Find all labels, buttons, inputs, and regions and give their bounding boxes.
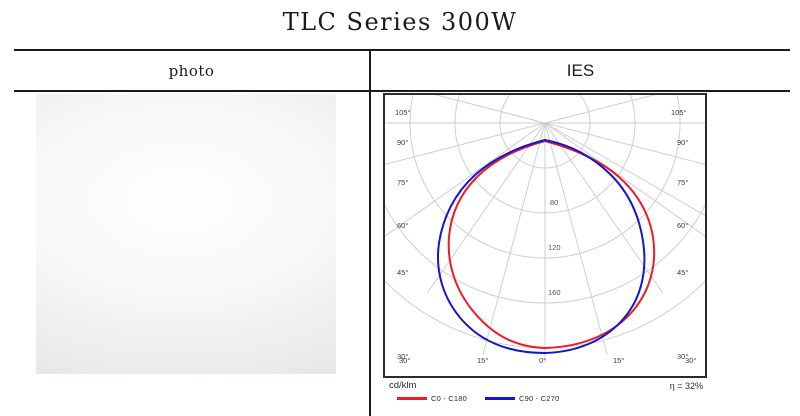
legend-swatch-red: [397, 397, 427, 400]
table-header-row: photo IES: [14, 51, 790, 92]
svg-text:105°: 105°: [671, 108, 687, 117]
page-title: TLC Series 300W: [0, 8, 800, 36]
svg-text:80: 80: [550, 198, 558, 207]
ies-polar-diagram: 105° 90° 75° 60° 45° 30° 105° 90°: [383, 93, 707, 406]
spec-table: photo IES: [14, 49, 790, 416]
column-header-photo-label: photo: [169, 62, 215, 80]
svg-text:90°: 90°: [677, 138, 688, 147]
legend-item-c0-c180: C0 - C180: [397, 394, 467, 403]
table-cell-photo: [14, 92, 371, 416]
ies-unit-label: cd/klm: [389, 380, 416, 391]
ies-legend-items: C0 - C180 C90 - C270: [397, 394, 559, 403]
table-header-cell-ies: IES: [371, 51, 790, 90]
ies-grid: [385, 95, 705, 363]
ies-angle-labels-bottom: 30° 15° 0° 15° 30°: [399, 356, 696, 365]
svg-text:45°: 45°: [677, 268, 688, 277]
svg-text:160: 160: [548, 288, 561, 297]
ies-chart-frame: 105° 90° 75° 60° 45° 30° 105° 90°: [383, 93, 707, 378]
page-root: TLC Series 300W photo IES: [0, 0, 800, 416]
svg-text:30°: 30°: [399, 356, 410, 365]
svg-text:75°: 75°: [677, 178, 688, 187]
table-cell-ies: 105° 90° 75° 60° 45° 30° 105° 90°: [371, 92, 790, 416]
svg-text:75°: 75°: [397, 178, 408, 187]
legend-label-c0-c180: C0 - C180: [431, 394, 467, 403]
svg-text:60°: 60°: [677, 221, 688, 230]
svg-text:0°: 0°: [539, 356, 546, 365]
svg-text:15°: 15°: [477, 356, 488, 365]
table-header-cell-photo: photo: [14, 51, 371, 90]
svg-text:90°: 90°: [397, 138, 408, 147]
ies-legend: cd/klm η = 32% C0 - C180 C90 - C270: [383, 380, 707, 406]
legend-item-c90-c270: C90 - C270: [485, 394, 559, 403]
photo-background: [36, 94, 336, 374]
ies-angle-labels-left: 105° 90° 75° 60° 45° 30°: [395, 108, 411, 361]
product-photo: [36, 94, 336, 374]
legend-label-c90-c270: C90 - C270: [519, 394, 559, 403]
svg-text:120: 120: [548, 243, 561, 252]
table-body-row: 105° 90° 75° 60° 45° 30° 105° 90°: [14, 92, 790, 416]
legend-swatch-blue: [485, 397, 515, 400]
svg-text:60°: 60°: [397, 221, 408, 230]
svg-text:15°: 15°: [613, 356, 624, 365]
svg-text:105°: 105°: [395, 108, 411, 117]
column-header-ies-label: IES: [567, 61, 594, 81]
svg-text:30°: 30°: [685, 356, 696, 365]
ies-efficiency-label: η = 32%: [670, 381, 703, 391]
ies-chart-svg: 105° 90° 75° 60° 45° 30° 105° 90°: [385, 95, 705, 376]
svg-text:45°: 45°: [397, 268, 408, 277]
